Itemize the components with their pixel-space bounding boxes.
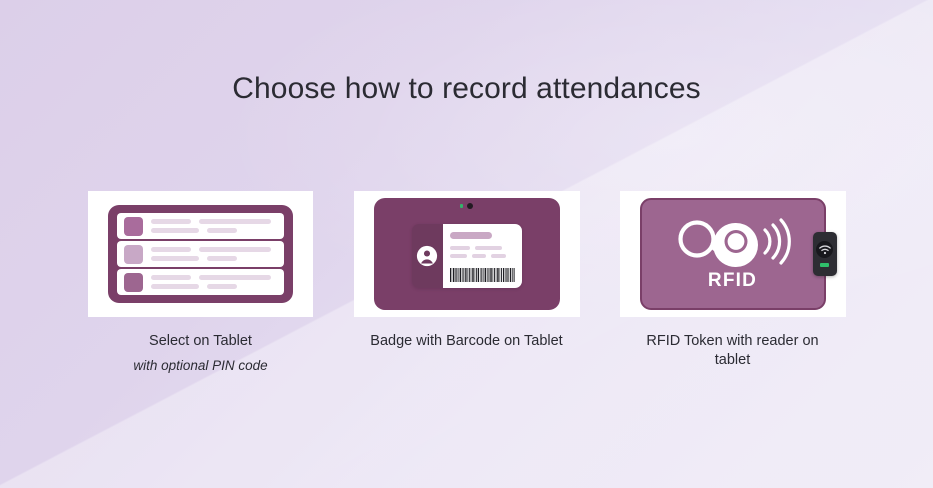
text-placeholder-bar [151, 284, 199, 289]
tablet-frame [374, 198, 560, 310]
text-placeholder-bar [450, 254, 467, 258]
avatar [124, 217, 143, 236]
text-line [151, 284, 277, 289]
text-placeholder-bar [151, 275, 191, 280]
option-badge-with-barcode[interactable]: Badge with Barcode on Tablet [354, 191, 579, 351]
option-caption: RFID Token with reader on tablet [635, 332, 831, 371]
text-line [151, 247, 277, 252]
tablet-screen [117, 213, 284, 295]
text-placeholder-bar [199, 247, 271, 252]
option-caption: Select on Tablet [110, 332, 292, 351]
text-line [151, 219, 277, 224]
barcode-icon [450, 268, 515, 282]
page-title: Choose how to record attendances [232, 72, 701, 105]
text-placeholder-bar [207, 284, 237, 289]
text-placeholder-bar [151, 256, 199, 261]
badge-card [412, 224, 522, 288]
list-item-text [151, 247, 277, 261]
text-placeholder-bar [491, 254, 506, 258]
badge-photo-panel [412, 224, 443, 288]
rfid-panel: RFID [640, 198, 826, 310]
rfid-label: RFID [708, 270, 757, 292]
badge-name-placeholder [450, 232, 492, 239]
text-placeholder-bar [207, 256, 237, 261]
avatar [124, 245, 143, 264]
text-placeholder-bar [199, 219, 271, 224]
list-item[interactable] [117, 213, 284, 239]
camera-dot-icon [467, 203, 473, 209]
option-select-on-tablet[interactable]: Select on Tablet with optional PIN code [88, 191, 313, 373]
option-card-illustration[interactable] [88, 191, 313, 317]
page-stage: Choose how to record attendances [0, 0, 933, 488]
list-item-text [151, 219, 277, 233]
text-placeholder-bar [207, 228, 237, 233]
tablet-camera-strip [374, 203, 560, 209]
text-line [450, 246, 515, 250]
option-card-illustration[interactable] [354, 191, 580, 317]
option-card-illustration[interactable]: RFID [620, 191, 846, 317]
text-placeholder-bar [472, 254, 486, 258]
text-placeholder-bar [450, 246, 470, 250]
option-rfid-token[interactable]: RFID [620, 191, 845, 371]
option-caption: Badge with Barcode on Tablet [369, 332, 565, 351]
option-subcaption: with optional PIN code [101, 358, 301, 373]
text-placeholder-bar [199, 275, 271, 280]
status-led-icon [460, 204, 463, 208]
status-led-icon [820, 263, 829, 267]
badge-details [443, 224, 522, 288]
text-placeholder-bar [151, 247, 191, 252]
text-placeholder-bar [151, 219, 191, 224]
list-item[interactable] [117, 269, 284, 295]
person-icon [416, 245, 438, 267]
list-item-text [151, 275, 277, 289]
attendance-method-options: Select on Tablet with optional PIN code [0, 191, 933, 373]
avatar [124, 273, 143, 292]
text-line [450, 254, 515, 258]
text-line [151, 256, 277, 261]
text-line [151, 228, 277, 233]
tablet-frame [108, 205, 293, 303]
rfid-reader-device[interactable] [813, 232, 837, 276]
list-item[interactable] [117, 241, 284, 267]
text-placeholder-bar [475, 246, 502, 250]
rfid-keyfob-icon [674, 216, 792, 268]
reader-button[interactable] [816, 241, 833, 258]
text-line [151, 275, 277, 280]
badge-text-lines [450, 246, 515, 258]
text-placeholder-bar [151, 228, 199, 233]
nfc-wifi-icon [819, 245, 831, 255]
